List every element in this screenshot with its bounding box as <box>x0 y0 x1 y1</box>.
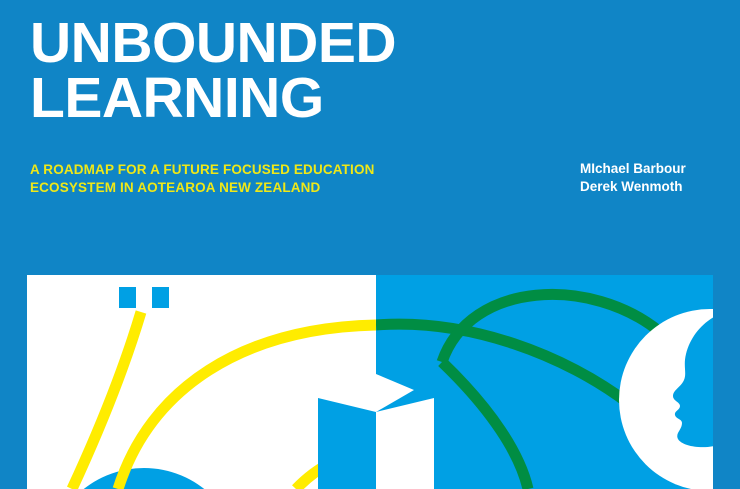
author-name-2: Derek Wenmoth <box>580 178 686 196</box>
page-subtitle: A ROADMAP FOR A FUTURE FOCUSED EDUCATION… <box>30 161 430 197</box>
m-shape-left <box>318 398 376 489</box>
cover-header-band: UNBOUNDED LEARNING A ROADMAP FOR A FUTUR… <box>0 0 740 275</box>
title-line-2: LEARNING <box>30 71 500 126</box>
author-list: MIchael Barbour Derek Wenmoth <box>580 160 686 196</box>
subtitle-line-2: ECOSYSTEM IN AOTEAROA NEW ZEALAND <box>30 179 430 197</box>
artwork-frame-top <box>0 270 740 275</box>
title-line-1: UNBOUNDED <box>30 16 500 71</box>
report-cover: UNBOUNDED LEARNING A ROADMAP FOR A FUTUR… <box>0 0 740 489</box>
cover-artwork <box>0 270 740 489</box>
subtitle-line-1: A ROADMAP FOR A FUTURE FOCUSED EDUCATION <box>30 161 430 179</box>
page-title: UNBOUNDED LEARNING <box>30 16 500 127</box>
artwork-frame-left <box>0 270 27 489</box>
artwork-frame-right <box>713 270 740 489</box>
m-shape-right <box>376 398 434 489</box>
author-name-1: MIchael Barbour <box>580 160 686 178</box>
